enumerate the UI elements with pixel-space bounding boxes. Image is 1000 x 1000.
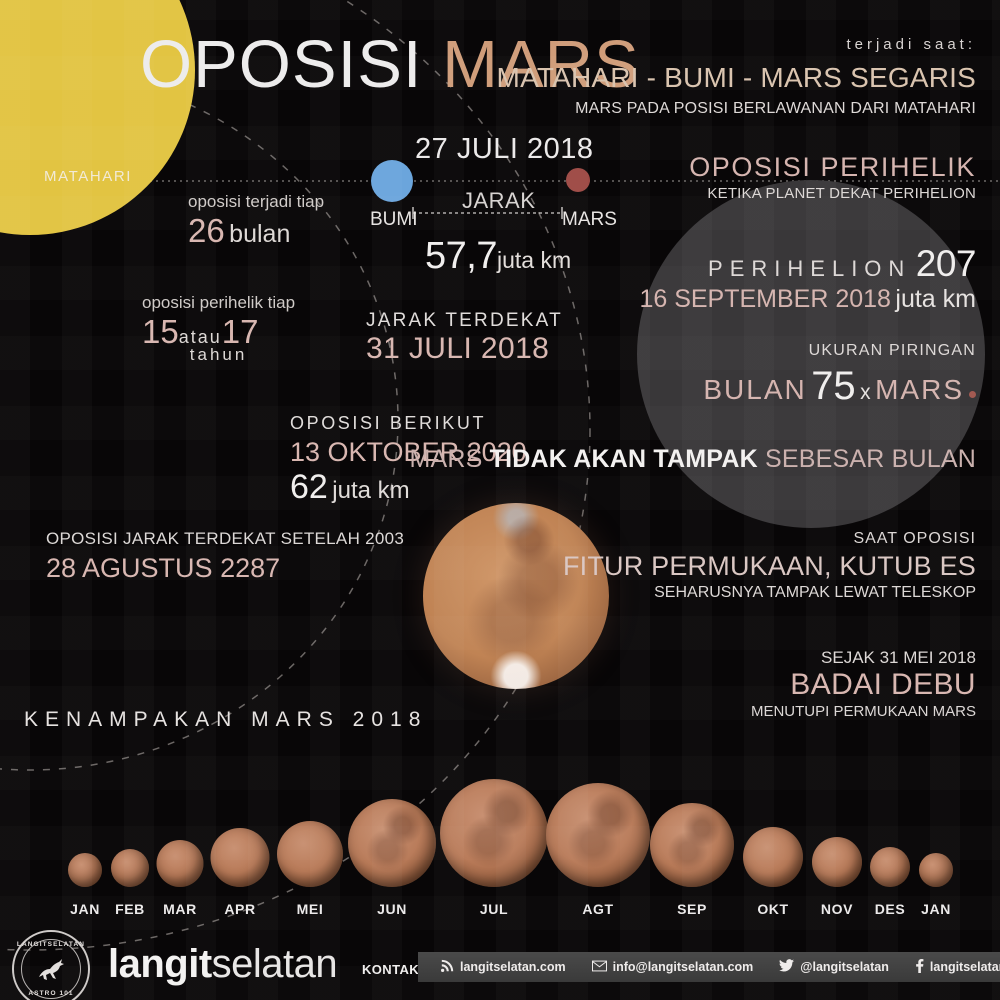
perihelion-date: 16 SEPTEMBER 2018 [639,285,891,313]
closest-distance-date: 31 JULI 2018 [366,332,549,365]
perihelic-cycle-caption: oposisi perihelik tiap [142,293,295,313]
disk-size-factor: 75 [811,364,856,408]
mars-month-jan-12: JAN [919,853,953,887]
perihelic-opposition-subtitle: KETIKA PLANET DEKAT PERIHELION [707,185,976,202]
myth-statement: MARS TIDAK AKAN TAMPAK SEBESAR BULAN [409,445,976,474]
contact-bar: langitselatan.cominfo@langitselatan.com@… [418,952,1000,982]
mars-month-nov-10: NOV [812,837,862,887]
month-label: FEB [115,901,145,917]
surface-title: FITUR PERMUKAAN, KUTUB ES [563,551,976,582]
mars-photograph [423,503,609,689]
next-opposition-unit: juta km [332,477,409,504]
langitselatan-logo: LANGITSELATAN ASTRO 101 [12,930,90,1000]
mars-month-des-11: DES [870,847,910,887]
mars-month-apr-3: APR [211,828,270,887]
month-label: JUN [377,901,407,917]
perihelic-cycle-block: oposisi perihelik tiap 15atau17 tahun [142,293,295,365]
mars-disk [650,803,734,887]
myth-pre: MARS [409,445,489,473]
opposition-date: 27 JULI 2018 [415,133,594,166]
appearance-heading: KENAMPAKAN MARS 2018 [24,708,427,732]
month-label: DES [875,901,906,917]
opposition-cycle-number: 26 [188,212,225,249]
mars-disk [546,783,650,887]
surface-caption: SAAT OPOSISI [853,530,976,548]
footer: LANGITSELATAN ASTRO 101 langitselatan KO… [0,922,1000,1000]
mars-disk [211,828,270,887]
mars-size-sequence: JANFEBMARAPRMEIJUNJULAGTSEPOKTNOVDESJAN [0,775,1000,935]
perihelic-opposition-title: OPOSISI PERIHELIK [689,152,976,183]
perihelion-line-2: 16 SEPTEMBER 2018 juta km [639,285,976,314]
email-icon [592,960,607,975]
mars-month-jan-0: JAN [68,853,102,887]
distance-value-group: 57,7juta km [425,235,571,278]
month-label: JUL [480,901,508,917]
mars-disk [812,837,862,887]
centaur-icon [34,955,68,983]
twitter-icon [779,959,794,975]
brand-part-2: selatan [212,942,337,986]
surface-subtitle: SEHARUSNYA TAMPAK LEWAT TELESKOP [654,584,976,602]
brand-part-1: langit [108,942,212,986]
disk-size-caption: UKURAN PIRINGAN [809,342,976,360]
perihelic-cycle-number-1: 15 [142,313,179,350]
mars-disk [68,853,102,887]
disk-size-moon: BULAN [703,374,806,405]
alignment-headline: MATAHARI - BUMI - MARS SEGARIS [497,62,976,94]
mars-dot-icon [969,391,976,398]
closest-after-2003-block: OPOSISI JARAK TERDEKAT SETELAH 2003 28 A… [46,529,404,584]
rss-icon [441,959,454,975]
month-label: NOV [821,901,853,917]
closest-after-2003-date: 28 AGUSTUS 2287 [46,553,404,584]
contact-rss[interactable]: langitselatan.com [428,959,579,975]
perihelic-cycle-conjunction: atau [179,327,222,347]
mars-month-agt-7: AGT [546,783,650,887]
earth-label: BUMI [370,209,418,231]
perihelion-line-1: PERIHELION 207 [639,243,976,285]
infographic-poster: MATAHARI OPOSISI MARS 27 JULI 2018 JARAK… [0,0,1000,1000]
distance-value: 57,7 [425,235,497,277]
contact-text: info@langitselatan.com [613,960,754,974]
month-label: APR [224,901,255,917]
sun-label: MATAHARI [44,168,132,185]
month-label: SEP [677,901,707,917]
perihelion-block: PERIHELION 207 16 SEPTEMBER 2018 juta km [639,243,976,314]
mars-disk [440,779,548,887]
contact-email[interactable]: info@langitselatan.com [579,960,767,975]
next-opposition-caption: OPOSISI BERIKUT [290,413,527,434]
perihelion-number: 207 [916,243,976,284]
facebook-icon [915,959,924,976]
contact-twitter[interactable]: @langitselatan [766,959,902,975]
dust-storm-title: BADAI DEBU [790,668,976,702]
disk-size-comparison: BULAN 75 x MARS [703,364,976,409]
mars-month-feb-1: FEB [111,849,149,887]
perihelion-unit: juta km [895,285,976,313]
closest-distance-block: JARAK TERDEKAT 31 JULI 2018 [366,310,563,366]
next-opposition-number: 62 [290,468,328,506]
mars-disk [870,847,910,887]
month-label: MAR [163,901,197,917]
distance-unit: juta km [497,247,571,273]
disk-size-times: x [860,381,871,404]
contact-text: langitselatan [930,960,1000,974]
mars-month-jul-6: JUL [440,779,548,887]
opposition-cycle-caption: oposisi terjadi tiap [188,192,324,212]
kontak-label: KONTAK: [362,962,424,977]
mars-month-okt-9: OKT [743,827,803,887]
mars-month-mei-4: MEI [277,821,343,887]
month-label: MEI [297,901,324,917]
dust-storm-since: SEJAK 31 MEI 2018 [821,648,976,668]
mars-body [566,168,590,192]
alignment-subtext: MARS PADA POSISI BERLAWANAN DARI MATAHAR… [575,100,976,118]
closest-distance-caption: JARAK TERDEKAT [366,310,563,332]
logo-bottom-text: ASTRO 101 [14,990,88,997]
brand-wordmark: langitselatan [108,942,337,987]
distance-label: JARAK [462,188,535,214]
mars-month-sep-8: SEP [650,803,734,887]
month-label: JAN [70,901,100,917]
month-label: OKT [757,901,788,917]
mars-disk [348,799,436,887]
mars-label: MARS [562,209,617,231]
title-part-oposisi: OPOSISI [140,27,423,102]
contact-facebook[interactable]: langitselatan [902,959,1000,976]
month-label: AGT [582,901,613,917]
month-label: JAN [921,901,951,917]
opposition-cycle-unit: bulan [229,220,290,248]
mars-disk [157,840,204,887]
dust-storm-subtitle: MENUTUPI PERMUKAAN MARS [751,703,976,720]
contact-text: langitselatan.com [460,960,566,974]
myth-post: SEBESAR BULAN [758,445,976,473]
mars-month-mar-2: MAR [157,840,204,887]
earth-body [371,160,413,202]
mars-disk [111,849,149,887]
disk-size-mars: MARS [875,374,964,405]
mars-disk [743,827,803,887]
mars-disk [277,821,343,887]
happens-when-label: terjadi saat: [846,36,976,53]
mars-disk [919,853,953,887]
myth-emphasis: TIDAK AKAN TAMPAK [490,445,758,473]
opposition-cycle-block: oposisi terjadi tiap 26 bulan [188,192,324,250]
closest-after-2003-caption: OPOSISI JARAK TERDEKAT SETELAH 2003 [46,529,404,549]
contact-text: @langitselatan [800,960,889,974]
perihelion-label: PERIHELION [708,256,911,281]
mars-month-jun-5: JUN [348,799,436,887]
logo-top-text: LANGITSELATAN [14,941,88,948]
